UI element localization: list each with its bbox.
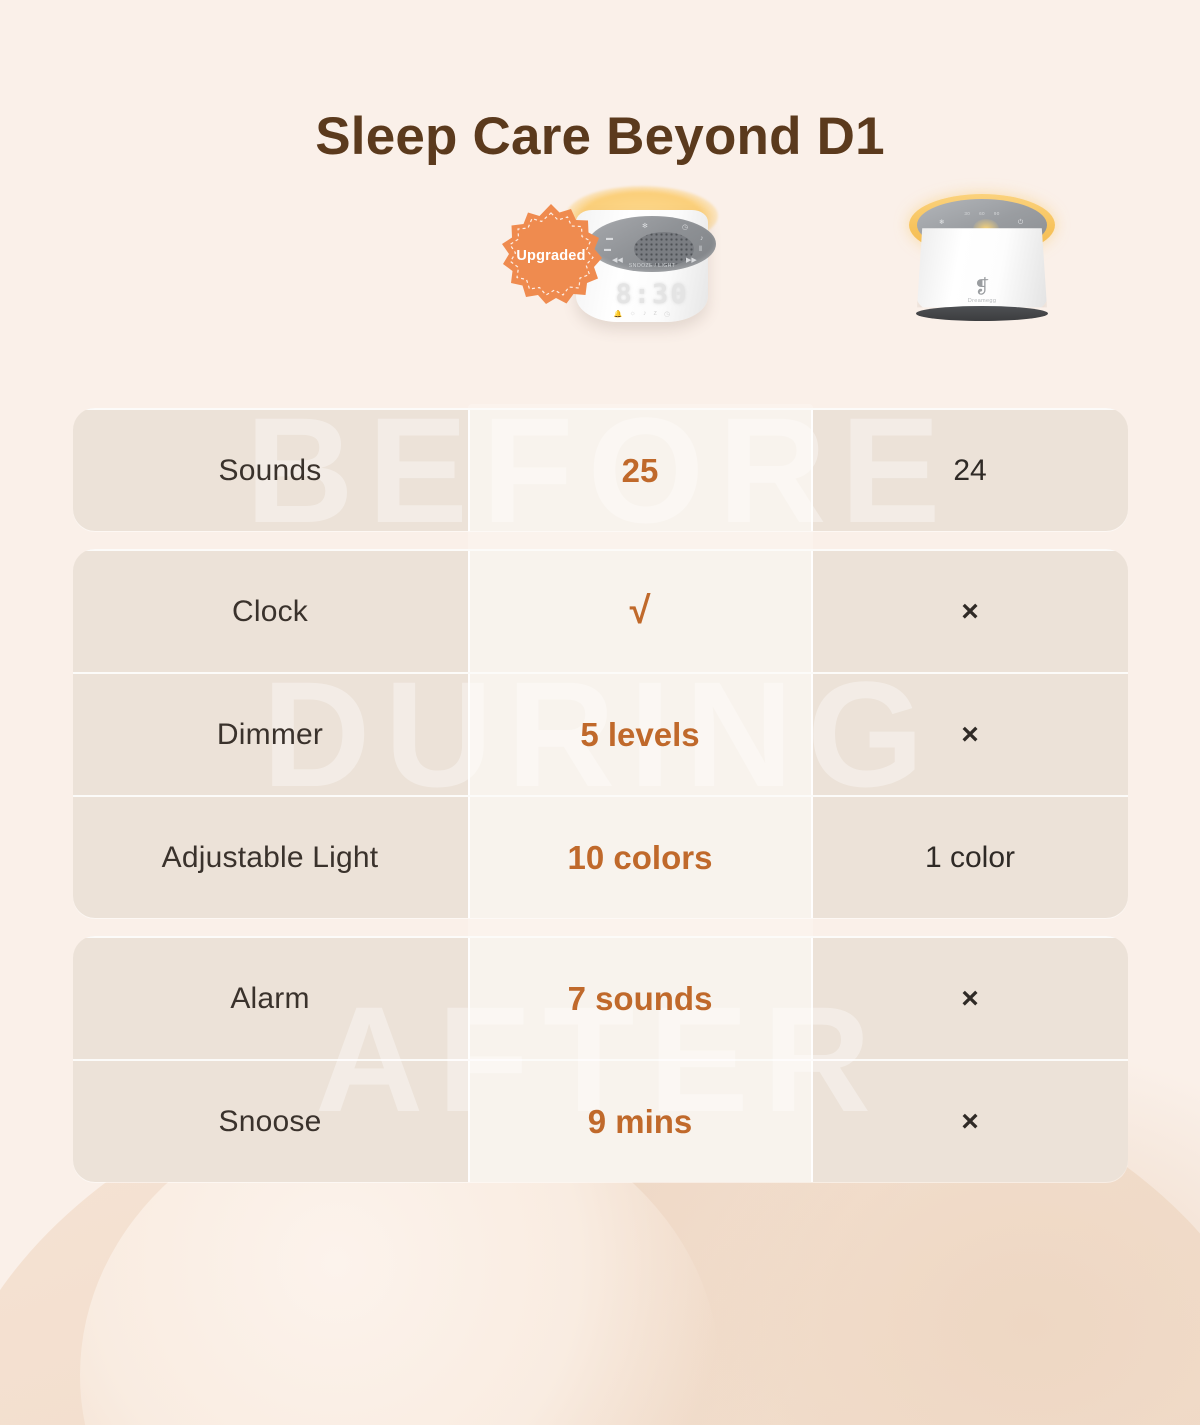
volume-up-icon: ▬ — [604, 246, 611, 253]
new-product-value-cell: 25 — [468, 410, 813, 531]
brightness-icon: ☼ — [630, 310, 636, 318]
old-product-value-cell: × — [813, 1061, 1128, 1182]
volume-down-icon: ▬ — [606, 235, 613, 242]
music-note-icon: ♪ — [700, 235, 704, 242]
product-image-strip: Upgraded ✻ ◷ ♪ ⦀ ▬ ▬ ◀◀ ▶▶ SNOOZE / LIGH… — [0, 174, 1200, 404]
timer-label-30: 30 — [964, 211, 970, 216]
table-row: Dimmer5 levels× — [73, 672, 1128, 795]
table-row: Alarm7 sounds× — [73, 936, 1128, 1059]
check-icon: √ — [630, 590, 651, 633]
speaker-grille-icon — [634, 232, 694, 266]
page-title: Sleep Care Beyond D1 — [0, 0, 1200, 166]
comparison-group: DURINGClock√×Dimmer5 levels×Adjustable L… — [73, 549, 1128, 918]
feature-label-cell: Alarm — [73, 938, 468, 1059]
comparison-group: AFTERAlarm7 sounds×Snoose9 mins× — [73, 936, 1128, 1182]
old-product-value-cell: × — [813, 674, 1128, 795]
timer-icon: ◷ — [664, 310, 670, 318]
product-comparison-page: Sleep Care Beyond D1 Upgraded ✻ ◷ ♪ ⦀ ▬ — [0, 0, 1200, 1425]
sleep-timer-icon: z — [654, 310, 658, 318]
value-text: 9 mins — [588, 1103, 693, 1141]
feature-label-cell: Adjustable Light — [73, 797, 468, 918]
brand-name: Dreamegg — [897, 298, 1067, 304]
brand-logo-icon: ❡ — [897, 278, 1067, 297]
upgraded-badge-label: Upgraded — [497, 248, 605, 264]
value-text: 1 color — [925, 841, 1015, 875]
power-icon: ⏻ — [1018, 220, 1023, 227]
comparison-table: BEFORESounds2524DURINGClock√×Dimmer5 lev… — [73, 404, 1128, 1182]
fan-icon: ❄ — [939, 220, 944, 227]
feature-label-cell: Dimmer — [73, 674, 468, 795]
value-text: 5 levels — [580, 716, 699, 754]
new-product-value-cell: √ — [468, 551, 813, 672]
table-row: Clock√× — [73, 549, 1128, 672]
value-text: 24 — [953, 454, 986, 488]
value-text: 7 sounds — [568, 980, 713, 1018]
timer-label-90: 90 — [994, 211, 1000, 216]
old-product-value-cell: 24 — [813, 410, 1128, 531]
comparison-group: BEFORESounds2524 — [73, 408, 1128, 531]
timer-label-60: 60 — [979, 211, 985, 216]
new-product-value-cell: 9 mins — [468, 1061, 813, 1182]
brightness-icon: ✻ — [642, 223, 648, 230]
cross-icon: × — [961, 595, 979, 629]
upgraded-badge: Upgraded — [497, 202, 605, 310]
product-image-old: 30 60 90 ❄ ⏻ ◁ ▷ ❀ ♫ ⦀ ❡ Dreamegg — [897, 190, 1067, 350]
table-row: Snoose9 mins× — [73, 1059, 1128, 1182]
cross-icon: × — [961, 1105, 979, 1139]
feature-label-cell: Sounds — [73, 410, 468, 531]
value-text: 25 — [622, 452, 659, 490]
alarm-bell-icon: 🔔 — [614, 310, 623, 318]
table-row: Sounds2524 — [73, 408, 1128, 531]
feature-label-cell: Snoose — [73, 1061, 468, 1182]
timer-indicator-labels: 30 60 90 — [917, 211, 1047, 216]
feature-label-cell: Clock — [73, 551, 468, 672]
old-product-value-cell: 1 color — [813, 797, 1128, 918]
panel-label-new: SNOOZE / LIGHT — [588, 263, 716, 269]
music-note-icon: ♪ — [643, 310, 647, 318]
product-base — [916, 306, 1048, 321]
control-panel-new: ✻ ◷ ♪ ⦀ ▬ ▬ ◀◀ ▶▶ SNOOZE / LIGHT — [588, 216, 716, 272]
value-text: 10 colors — [568, 839, 713, 877]
new-product-value-cell: 5 levels — [468, 674, 813, 795]
table-row: Adjustable Light10 colors1 color — [73, 795, 1128, 918]
cross-icon: × — [961, 718, 979, 752]
new-product-value-cell: 7 sounds — [468, 938, 813, 1059]
status-icon-row: 🔔 ☼ ♪ z ◷ — [576, 310, 708, 318]
old-product-value-cell: × — [813, 938, 1128, 1059]
old-product-value-cell: × — [813, 551, 1128, 672]
equalizer-icon: ⦀ — [699, 246, 702, 253]
new-product-value-cell: 10 colors — [468, 797, 813, 918]
cross-icon: × — [961, 982, 979, 1016]
clock-icon: ◷ — [682, 224, 688, 231]
clock-display: 8:30 — [598, 278, 706, 310]
